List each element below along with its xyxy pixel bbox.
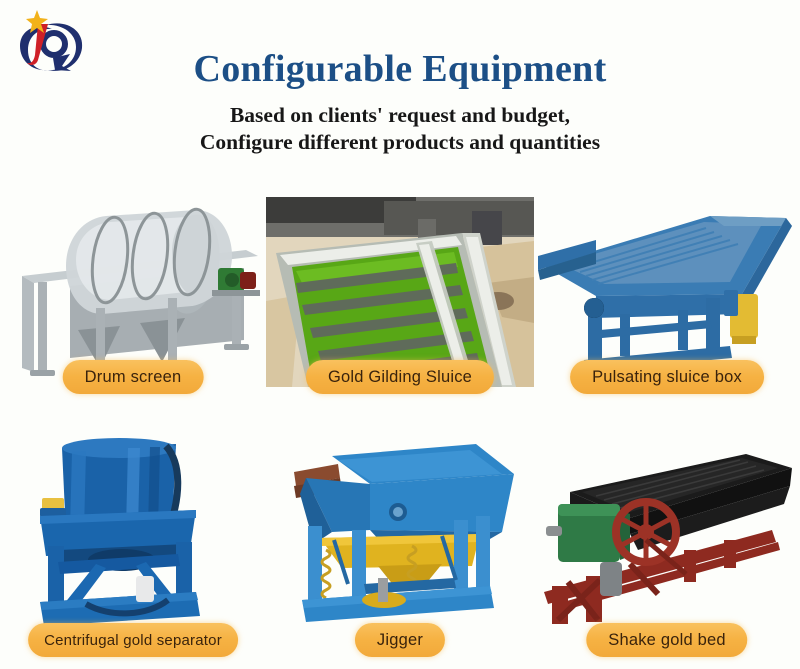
product-grid: Drum screen — [0, 186, 800, 669]
product-image-pulsating-sluice-box — [534, 190, 800, 386]
subtitle-line-2: Configure different products and quantit… — [0, 129, 800, 157]
product-label-drum-screen[interactable]: Drum screen — [63, 360, 204, 394]
header-block: Configurable Equipment Based on clients'… — [0, 50, 800, 157]
product-card-pulsating-sluice-box[interactable]: Pulsating sluice box — [534, 186, 800, 430]
product-image-centrifugal-gold-separator — [0, 434, 266, 630]
gold-gilding-sluice-artwork — [266, 197, 534, 387]
product-image-jigger — [266, 434, 534, 630]
product-card-jigger[interactable]: Jigger — [266, 430, 534, 669]
product-image-gold-gilding-sluice — [266, 197, 534, 387]
product-card-gold-gilding-sluice[interactable]: Gold Gilding Sluice — [266, 186, 534, 430]
product-card-centrifugal-gold-separator[interactable]: Centrifugal gold separator — [0, 430, 266, 669]
product-card-drum-screen[interactable]: Drum screen — [0, 186, 266, 430]
product-card-shake-gold-bed[interactable]: Shake gold bed — [534, 430, 800, 669]
centrifugal-separator-artwork — [0, 434, 266, 630]
drum-screen-artwork — [0, 190, 266, 386]
product-label-gold-gilding-sluice[interactable]: Gold Gilding Sluice — [306, 360, 494, 394]
subtitle-line-1: Based on clients' request and budget, — [0, 102, 800, 130]
shake-gold-bed-artwork — [534, 434, 800, 630]
product-label-pulsating-sluice-box[interactable]: Pulsating sluice box — [570, 360, 764, 394]
page-title: Configurable Equipment — [0, 50, 800, 90]
product-label-centrifugal-gold-separator[interactable]: Centrifugal gold separator — [28, 623, 238, 657]
product-label-shake-gold-bed[interactable]: Shake gold bed — [586, 623, 747, 657]
pulsating-sluice-box-artwork — [534, 190, 800, 386]
page-subtitle: Based on clients' request and budget, Co… — [0, 102, 800, 157]
product-image-shake-gold-bed — [534, 434, 800, 630]
product-label-jigger[interactable]: Jigger — [355, 623, 445, 657]
product-image-drum-screen — [0, 190, 266, 386]
jigger-artwork — [266, 434, 534, 630]
